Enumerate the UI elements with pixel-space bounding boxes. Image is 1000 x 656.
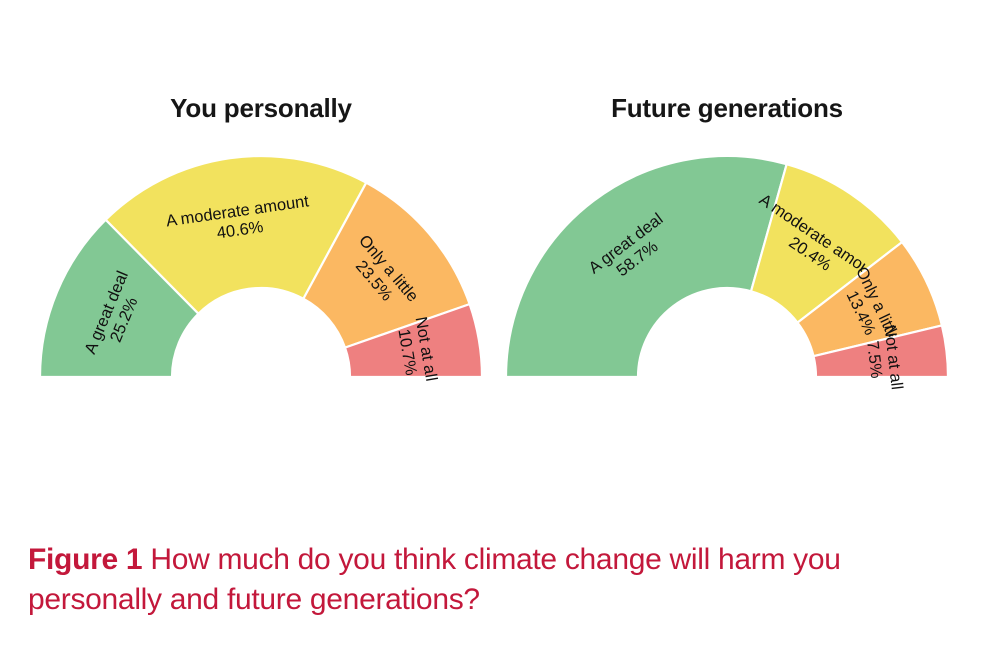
figure-caption: Figure 1 How much do you think climate c… — [28, 540, 968, 620]
gauge-slice — [506, 156, 787, 377]
gauge-chart-you-personally: A great deal25.2%A moderate amount40.6%O… — [40, 156, 482, 386]
figure-root: You personally Future generations A grea… — [0, 0, 1000, 656]
half-donut-gauge-charts: A great deal25.2%A moderate amount40.6%O… — [0, 0, 1000, 520]
figure-caption-text: How much do you think climate change wil… — [28, 543, 841, 616]
figure-caption-label: Figure 1 — [28, 543, 142, 576]
gauge-chart-future-generations: A great deal58.7%A moderate amount20.4%O… — [506, 156, 948, 393]
